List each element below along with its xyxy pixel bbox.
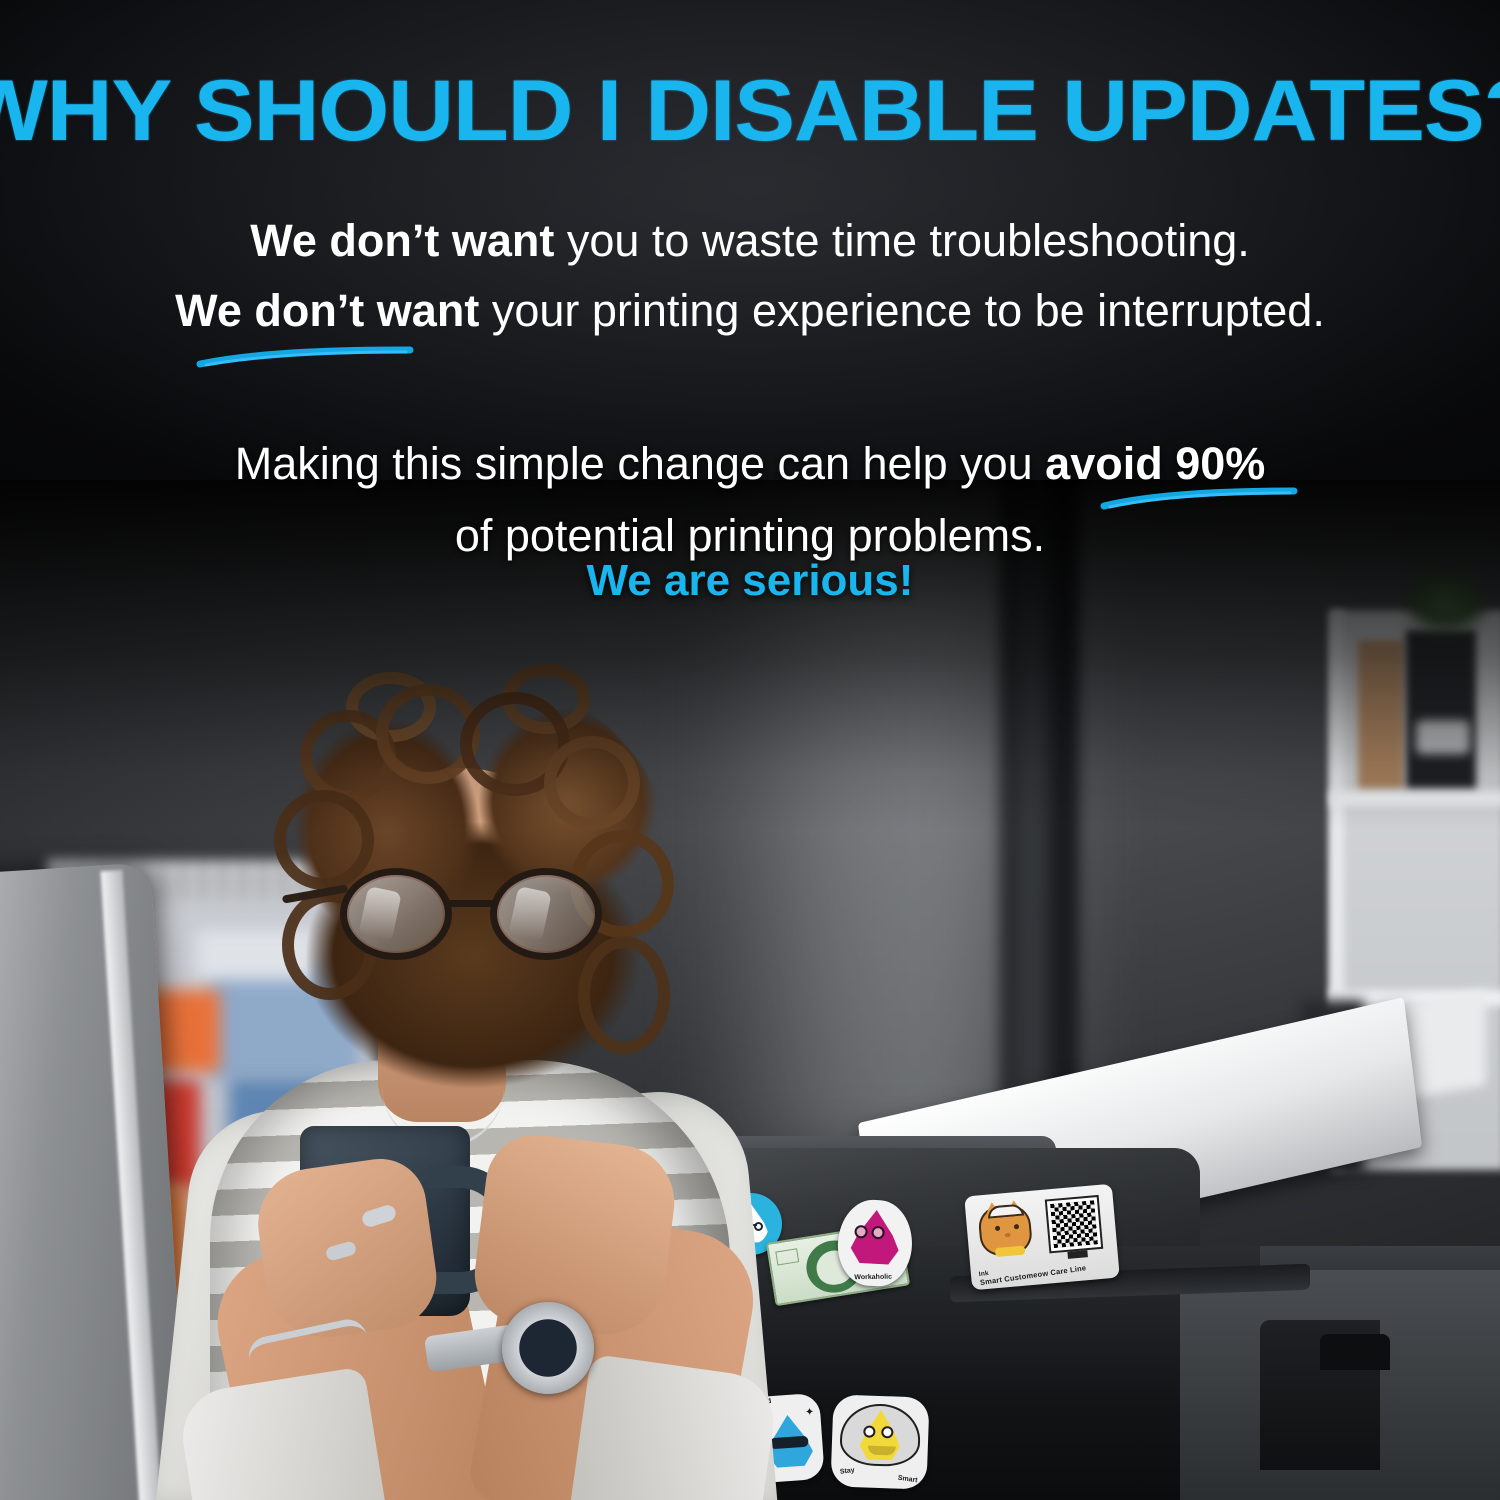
body-line-2-rest: your printing experience to be interrupt… xyxy=(479,285,1325,336)
shelf-object xyxy=(1416,720,1470,754)
body-line-3-bold: avoid 90% xyxy=(1045,438,1265,489)
eyeglasses xyxy=(340,868,608,960)
body-line-1: We don’t want you to waste time troubles… xyxy=(0,206,1500,276)
lens-glare xyxy=(358,886,402,942)
body-line-3-rest: Making this simple change can help you xyxy=(235,438,1045,489)
shelf-binder xyxy=(1358,640,1404,788)
body-line-3: Making this simple change can help you a… xyxy=(0,428,1500,500)
body-line-1-bold: We don’t want xyxy=(250,215,554,266)
scarf-icon xyxy=(995,1246,1026,1258)
eye-icon xyxy=(1014,1224,1019,1229)
nose-icon xyxy=(1005,1233,1011,1238)
person-subject xyxy=(150,640,790,1500)
sticker-label-right: Smart xyxy=(897,1475,918,1485)
sparkle-icon: ✦ xyxy=(805,1405,815,1419)
hand-right xyxy=(469,1129,681,1341)
glasses-bridge xyxy=(448,900,496,907)
printer-tab xyxy=(1320,1334,1390,1370)
lens-left xyxy=(340,868,452,960)
shelf-board xyxy=(1330,790,1500,806)
stay-smart-sticker: Stay Smart xyxy=(830,1394,929,1489)
shelf-binder xyxy=(1406,630,1476,788)
customeow-care-sticker: Ink Smart Customeow Care Line xyxy=(964,1184,1120,1291)
eye-icon xyxy=(995,1226,1000,1231)
sticker-label: Workaholic xyxy=(840,1273,906,1281)
sticker-label-left: Stay xyxy=(840,1467,856,1476)
lens-right xyxy=(490,868,602,960)
body-line-1-rest: you to waste time troubleshooting. xyxy=(554,215,1249,266)
qr-pattern xyxy=(1050,1200,1098,1248)
body-copy-top: We don’t want you to waste time troubles… xyxy=(0,206,1500,346)
qr-code-icon xyxy=(1045,1195,1104,1254)
cat-face xyxy=(990,1220,1026,1245)
lens-glare xyxy=(508,886,552,942)
page-title: WHY SHOULD I DISABLE UPDATES? xyxy=(0,62,1500,161)
promo-banner-image: 100 Workaholic Ink xyxy=(0,0,1500,1500)
hair-curl xyxy=(544,736,640,830)
cat-icon xyxy=(977,1203,1033,1257)
body-line-2: We don’t want your printing experience t… xyxy=(0,276,1500,346)
body-copy-bottom: Making this simple change can help you a… xyxy=(0,428,1500,572)
emphasis-text: We are serious! xyxy=(0,556,1500,606)
body-line-2-bold: We don’t want xyxy=(175,285,479,336)
